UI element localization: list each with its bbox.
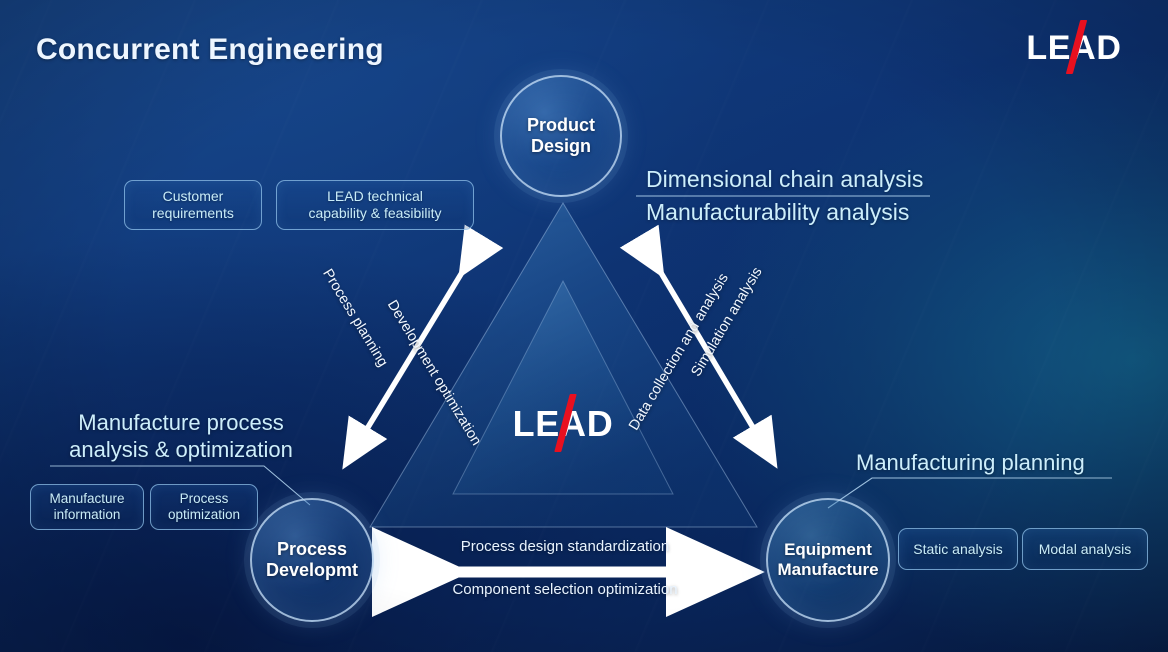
pill-process-optimization-line2: optimization bbox=[168, 507, 240, 523]
slide-canvas: Concurrent Engineering LEAD LEAD Product… bbox=[0, 0, 1168, 652]
pill-modal-analysis-label: Modal analysis bbox=[1039, 541, 1132, 558]
pill-static-analysis[interactable]: Static analysis bbox=[898, 528, 1018, 570]
pill-manufacture-information-line1: Manufacture bbox=[49, 491, 124, 507]
pill-lead-technical-capability-line1: LEAD technical bbox=[308, 188, 441, 205]
pill-customer-requirements[interactable]: Customer requirements bbox=[124, 180, 262, 230]
heading-left-line1: Manufacture process bbox=[52, 410, 310, 437]
node-product-design-line2: Design bbox=[527, 136, 595, 157]
arrow-label-component-selection-optimization: Component selection optimization bbox=[452, 581, 677, 598]
pill-customer-requirements-line2: requirements bbox=[152, 205, 234, 222]
arrow-label-process-design-standardization: Process design standardization bbox=[461, 538, 669, 555]
lead-logo-center: LEAD bbox=[515, 400, 611, 448]
pill-process-optimization[interactable]: Process optimization bbox=[150, 484, 258, 530]
heading-top-right-line2: Manufacturability analysis bbox=[646, 198, 923, 226]
node-equipment-manufacture[interactable]: Equipment Manufacture bbox=[766, 498, 890, 622]
heading-left-line2: analysis & optimization bbox=[52, 437, 310, 464]
pill-manufacture-information-line2: information bbox=[49, 507, 124, 523]
node-process-development[interactable]: Process Developmt bbox=[250, 498, 374, 622]
node-product-design[interactable]: Product Design bbox=[500, 75, 622, 197]
heading-top-right-line1: Dimensional chain analysis bbox=[646, 165, 923, 193]
pill-modal-analysis[interactable]: Modal analysis bbox=[1022, 528, 1148, 570]
page-title: Concurrent Engineering bbox=[36, 33, 384, 67]
right-heading-leader bbox=[828, 478, 1112, 508]
pill-lead-technical-capability[interactable]: LEAD technical capability & feasibility bbox=[276, 180, 474, 230]
pill-process-optimization-line1b: Process bbox=[168, 491, 240, 507]
pill-customer-requirements-line1: Customer bbox=[152, 188, 234, 205]
node-equipment-manufacture-line2: Manufacture bbox=[777, 560, 878, 580]
node-process-development-line1: Process bbox=[266, 539, 358, 560]
node-product-design-line1: Product bbox=[527, 115, 595, 136]
heading-right-line1: Manufacturing planning bbox=[856, 450, 1085, 477]
lead-logo-header: LEAD bbox=[1028, 25, 1120, 71]
heading-top-right: Dimensional chain analysis Manufacturabi… bbox=[646, 165, 923, 226]
node-equipment-manufacture-line1: Equipment bbox=[777, 540, 878, 560]
node-process-development-line2: Developmt bbox=[266, 560, 358, 581]
heading-right: Manufacturing planning bbox=[856, 450, 1085, 477]
pill-static-analysis-label: Static analysis bbox=[913, 541, 1002, 558]
pill-lead-technical-capability-line2: capability & feasibility bbox=[308, 205, 441, 222]
heading-left: Manufacture process analysis & optimizat… bbox=[52, 410, 310, 464]
pill-manufacture-information[interactable]: Manufacture information bbox=[30, 484, 144, 530]
